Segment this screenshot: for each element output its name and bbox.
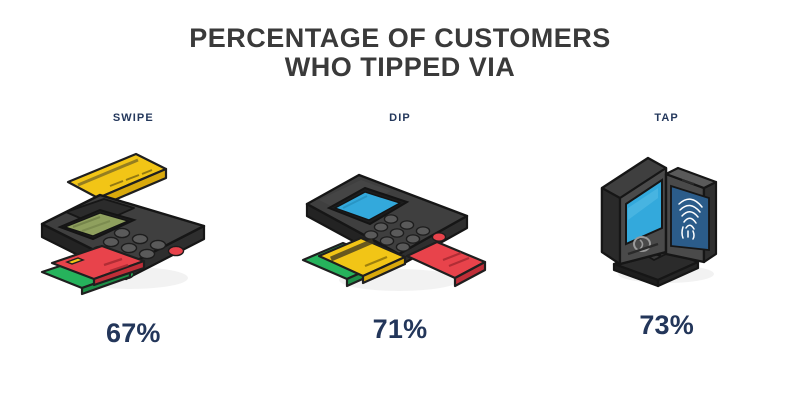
column-label-swipe: SWIPE: [113, 110, 154, 126]
column-label-tap: TAP: [654, 110, 678, 126]
title-line-1: PERCENTAGE OF CUSTOMERS: [0, 24, 800, 53]
kiosk-terminal: [602, 158, 666, 264]
title-line-2: WHO TIPPED VIA: [0, 53, 800, 82]
stat-columns: SWIPE: [0, 110, 800, 380]
cancel-key: [169, 246, 184, 255]
dip-terminal-illustration: [295, 152, 505, 322]
column-value-swipe: 67%: [106, 318, 161, 348]
cancel-key: [432, 233, 445, 241]
tap-terminal-illustration: [562, 134, 772, 304]
swipe-terminal-illustration: [26, 138, 236, 308]
stat-column-dip: DIP: [280, 110, 520, 380]
column-value-tap: 73%: [639, 310, 694, 340]
stat-column-swipe: SWIPE: [13, 110, 253, 380]
column-label-dip: DIP: [389, 110, 411, 126]
stat-column-tap: TAP: [547, 110, 787, 380]
page-title: PERCENTAGE OF CUSTOMERS WHO TIPPED VIA: [0, 24, 800, 82]
infographic-root: PERCENTAGE OF CUSTOMERS WHO TIPPED VIA S…: [0, 0, 800, 400]
phone-device: [666, 168, 716, 262]
